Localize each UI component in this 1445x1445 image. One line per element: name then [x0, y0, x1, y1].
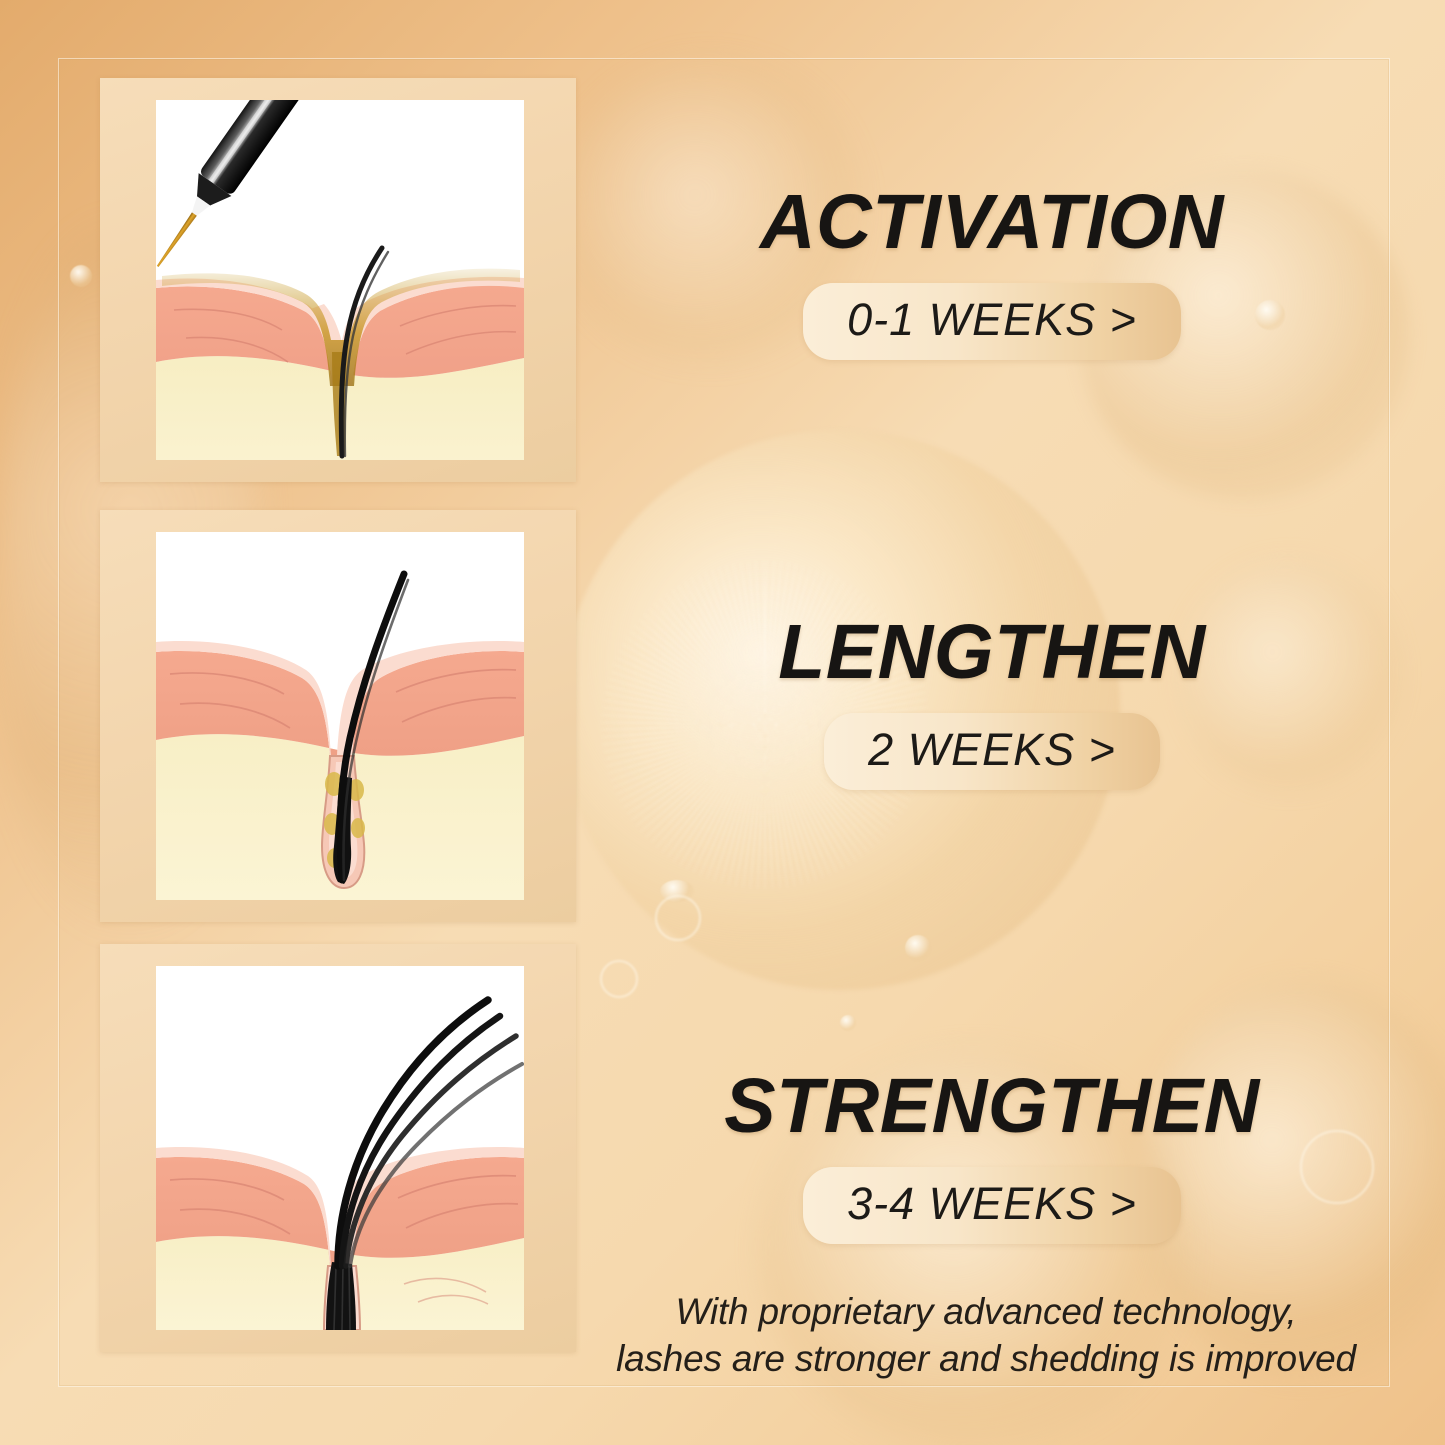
- bubble-speck-2: [840, 1015, 856, 1031]
- step-badge-label-strengthen: 3-4 WEEKS >: [847, 1178, 1137, 1229]
- serum-applicator-follicle-illustration: [156, 100, 524, 460]
- single-lash-growth-illustration: [156, 532, 524, 900]
- footer-caption-line-2: lashes are stronger and shedding is impr…: [576, 1335, 1396, 1382]
- step-badge-lengthen[interactable]: 2 WEEKS >: [824, 713, 1160, 790]
- step-title-activation: ACTIVATION: [596, 184, 1388, 261]
- bubble-speck-5: [70, 265, 92, 287]
- step-badge-label-lengthen: 2 WEEKS >: [868, 724, 1116, 775]
- poster-canvas: ACTIVATION 0-1 WEEKS > LENGTHEN 2 WEEKS …: [0, 0, 1445, 1445]
- bubble-ring-2: [600, 960, 638, 998]
- step-block-activation: ACTIVATION 0-1 WEEKS >: [596, 184, 1388, 360]
- follicle-diagram-svg: [156, 532, 524, 900]
- footer-caption: With proprietary advanced technology, la…: [576, 1288, 1396, 1383]
- step-title-lengthen: LENGTHEN: [596, 614, 1388, 691]
- bubble-ring-1: [655, 895, 701, 941]
- illustration-card-activation: [100, 78, 576, 482]
- step-title-strengthen: STRENGTHEN: [596, 1068, 1388, 1145]
- step-badge-activation[interactable]: 0-1 WEEKS >: [803, 283, 1181, 360]
- step-badge-label-activation: 0-1 WEEKS >: [847, 294, 1137, 345]
- footer-caption-line-1: With proprietary advanced technology,: [576, 1288, 1396, 1335]
- illustration-card-lengthen: [100, 510, 576, 922]
- multiple-lashes-illustration: [156, 966, 524, 1330]
- step-block-strengthen: STRENGTHEN 3-4 WEEKS >: [596, 1068, 1388, 1244]
- follicle-diagram-svg: [156, 966, 524, 1330]
- step-badge-strengthen[interactable]: 3-4 WEEKS >: [803, 1167, 1181, 1244]
- follicle-diagram-svg: [156, 100, 524, 460]
- step-block-lengthen: LENGTHEN 2 WEEKS >: [596, 614, 1388, 790]
- bubble-speck-1: [905, 935, 931, 961]
- illustration-card-strengthen: [100, 944, 576, 1352]
